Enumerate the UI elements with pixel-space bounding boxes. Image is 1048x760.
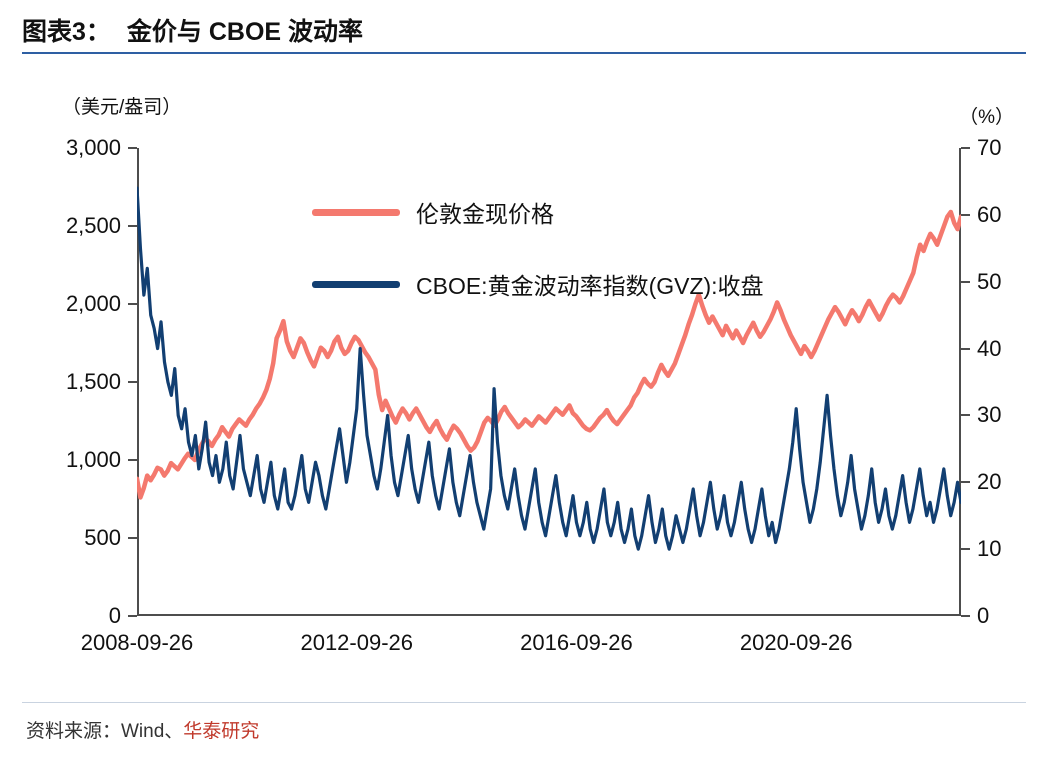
source-prefix: 资料来源：Wind、 [26, 721, 183, 742]
right-axis-label: 70 [977, 135, 1001, 161]
right-tick [961, 615, 970, 617]
right-tick [961, 414, 970, 416]
legend-swatch-gvz [312, 281, 400, 288]
source-note: 资料来源：Wind、华泰研究 [26, 716, 259, 743]
left-tick [128, 459, 137, 461]
right-axis-label: 10 [977, 536, 1001, 562]
left-tick [128, 615, 137, 617]
figure-header: 图表3： 金价与 CBOE 波动率 [22, 12, 1026, 48]
left-axis-label: 2,000 [66, 291, 121, 317]
legend-item-gvz: CBOE:黄金波动率指数(GVZ):收盘 [312, 267, 764, 301]
legend-swatch-gold [312, 209, 400, 216]
right-axis-label: 0 [977, 603, 989, 629]
figure-number: 图表3： [22, 12, 111, 48]
x-axis-label: 2012-09-26 [300, 630, 413, 656]
left-tick [128, 303, 137, 305]
legend-label-gold: 伦敦金现价格 [416, 195, 554, 229]
right-tick [961, 147, 970, 149]
right-tick [961, 481, 970, 483]
left-tick [128, 381, 137, 383]
right-tick [961, 214, 970, 216]
chart-legend: 伦敦金现价格 CBOE:黄金波动率指数(GVZ):收盘 [312, 195, 764, 339]
left-tick [128, 537, 137, 539]
figure-title: 金价与 CBOE 波动率 [127, 12, 363, 48]
left-axis-label: 1,500 [66, 369, 121, 395]
right-tick [961, 548, 970, 550]
left-axis-label: 2,500 [66, 213, 121, 239]
title-divider [22, 52, 1026, 54]
footer-divider [22, 702, 1026, 703]
right-tick [961, 348, 970, 350]
x-axis-label: 2016-09-26 [520, 630, 633, 656]
x-axis-label: 2020-09-26 [740, 630, 853, 656]
legend-item-gold: 伦敦金现价格 [312, 195, 764, 229]
right-axis-label: 60 [977, 202, 1001, 228]
right-axis-label: 20 [977, 469, 1001, 495]
right-axis-label: 30 [977, 402, 1001, 428]
left-axis-label: 1,000 [66, 447, 121, 473]
left-axis-unit: （美元/盎司） [62, 92, 181, 119]
right-axis-unit: （%） [959, 102, 1014, 129]
chart-container: （美元/盎司） （%） 05001,0001,5002,0002,5003,00… [22, 70, 1026, 690]
right-tick [961, 281, 970, 283]
legend-label-gvz: CBOE:黄金波动率指数(GVZ):收盘 [416, 267, 764, 301]
figure-page: 图表3： 金价与 CBOE 波动率 （美元/盎司） （%） 05001,0001… [0, 0, 1048, 760]
left-tick [128, 225, 137, 227]
source-brand: 华泰研究 [183, 721, 259, 742]
left-axis-label: 3,000 [66, 135, 121, 161]
left-axis-label: 500 [84, 525, 121, 551]
right-axis-label: 50 [977, 269, 1001, 295]
left-axis-label: 0 [109, 603, 121, 629]
left-tick [128, 147, 137, 149]
x-axis-label: 2008-09-26 [81, 630, 194, 656]
right-axis-label: 40 [977, 336, 1001, 362]
